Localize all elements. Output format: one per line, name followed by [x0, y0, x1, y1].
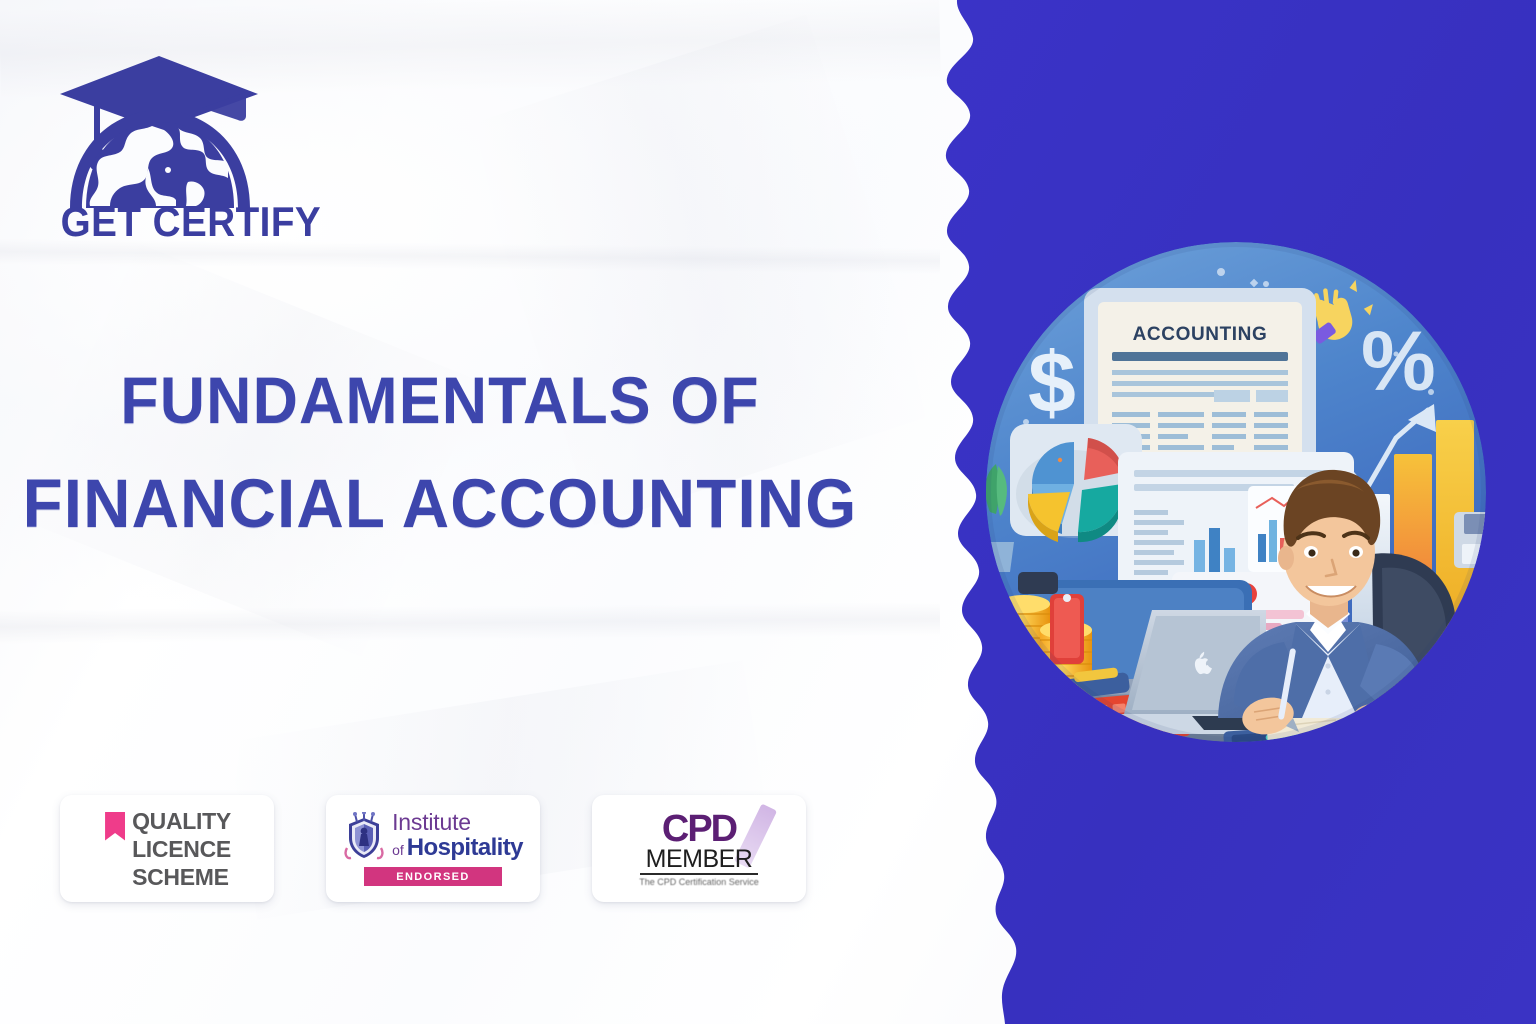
qls-line-3: SCHEME [132, 863, 231, 891]
page-title: FUNDAMENTALS OF FINANCIAL ACCOUNTING [0, 348, 880, 556]
cpd-member-label: MEMBER [646, 846, 753, 872]
ioh-line-1: Institute [392, 811, 523, 834]
crest-icon [343, 812, 385, 860]
accountant-at-desk-illustration: $ % [966, 242, 1506, 742]
graduation-cap-globe-icon [52, 48, 267, 208]
brand-logo[interactable]: GET CERTIFY [52, 48, 267, 248]
cpd-tagline: The CPD Certification Service [629, 877, 769, 888]
svg-text:ACCOUNTING: ACCOUNTING [1133, 324, 1268, 345]
bookmark-icon [105, 812, 125, 841]
badge-institute-of-hospitality[interactable]: Institute of Hospitality ENDORSED [326, 795, 540, 902]
ioh-line-2: Hospitality [407, 836, 523, 860]
cpd-acronym: CPD [662, 810, 736, 848]
accreditation-badges: QUALITY LICENCE SCHEME [60, 795, 806, 902]
title-line-1: FUNDAMENTALS OF [22, 348, 858, 452]
ioh-endorsed-ribbon: ENDORSED [364, 867, 502, 886]
ioh-of: of [392, 843, 404, 857]
qls-line-2: LICENCE [132, 835, 231, 863]
qls-line-1: QUALITY [132, 807, 231, 835]
cpd-divider [640, 873, 758, 875]
brand-logo-text: GET CERTIFY [61, 198, 259, 246]
title-line-2: FINANCIAL ACCOUNTING [22, 452, 858, 556]
badge-cpd-member[interactable]: CPD MEMBER The CPD Certification Service [592, 795, 806, 902]
badge-quality-licence-scheme[interactable]: QUALITY LICENCE SCHEME [60, 795, 274, 902]
poster-canvas: GET CERTIFY FUNDAMENTALS OF FINANCIAL AC… [0, 0, 1536, 1024]
